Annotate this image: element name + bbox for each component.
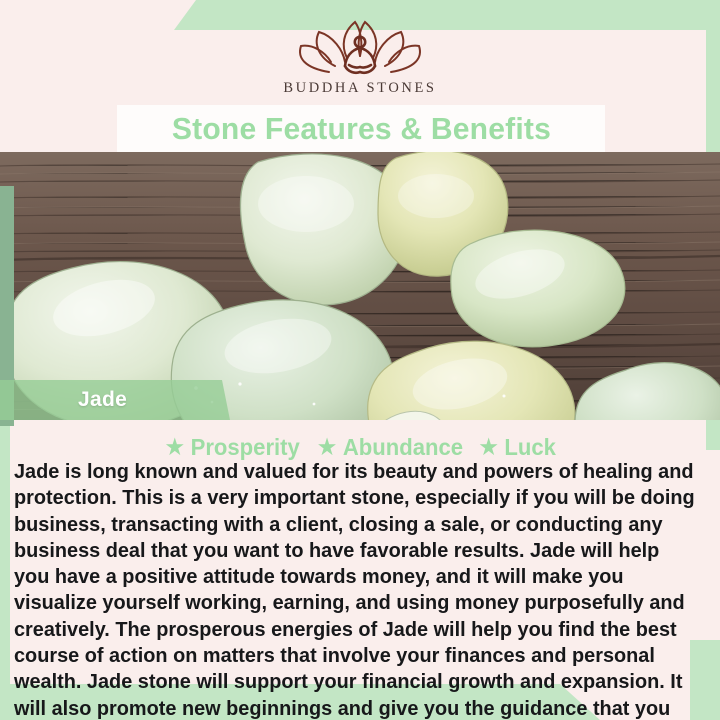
lotus-meditation-icon [285,16,435,78]
decorative-band-left-lower [0,426,10,686]
star-icon: ★ [479,437,497,458]
page-title: Stone Features & Benefits [171,111,550,147]
benefit-item-luck: ★ Luck [479,434,555,461]
benefit-label: Abundance [342,434,462,461]
star-icon: ★ [318,437,336,458]
photo-caption-band: Jade [0,380,230,420]
stone-name-label: Jade [0,388,127,412]
title-banner: Stone Features & Benefits [117,105,605,152]
stone-photo-illustration [0,152,720,420]
brand-name: BUDDHA STONES [283,80,436,97]
benefit-label: Prosperity [190,434,299,461]
stone-photo [0,152,720,420]
description-block: Jade is long known and valued for its be… [14,459,706,720]
benefit-item-prosperity: ★ Prosperity [166,434,300,461]
benefit-item-abundance: ★ Abundance [318,434,463,461]
brand-logo: BUDDHA STONES [0,16,720,102]
infographic-page: BUDDHA STONES Stone Features & Benefits [0,0,720,720]
description-text: Jade is long known and valued for its be… [14,459,696,720]
benefit-label: Luck [504,434,556,461]
star-icon: ★ [166,437,184,458]
